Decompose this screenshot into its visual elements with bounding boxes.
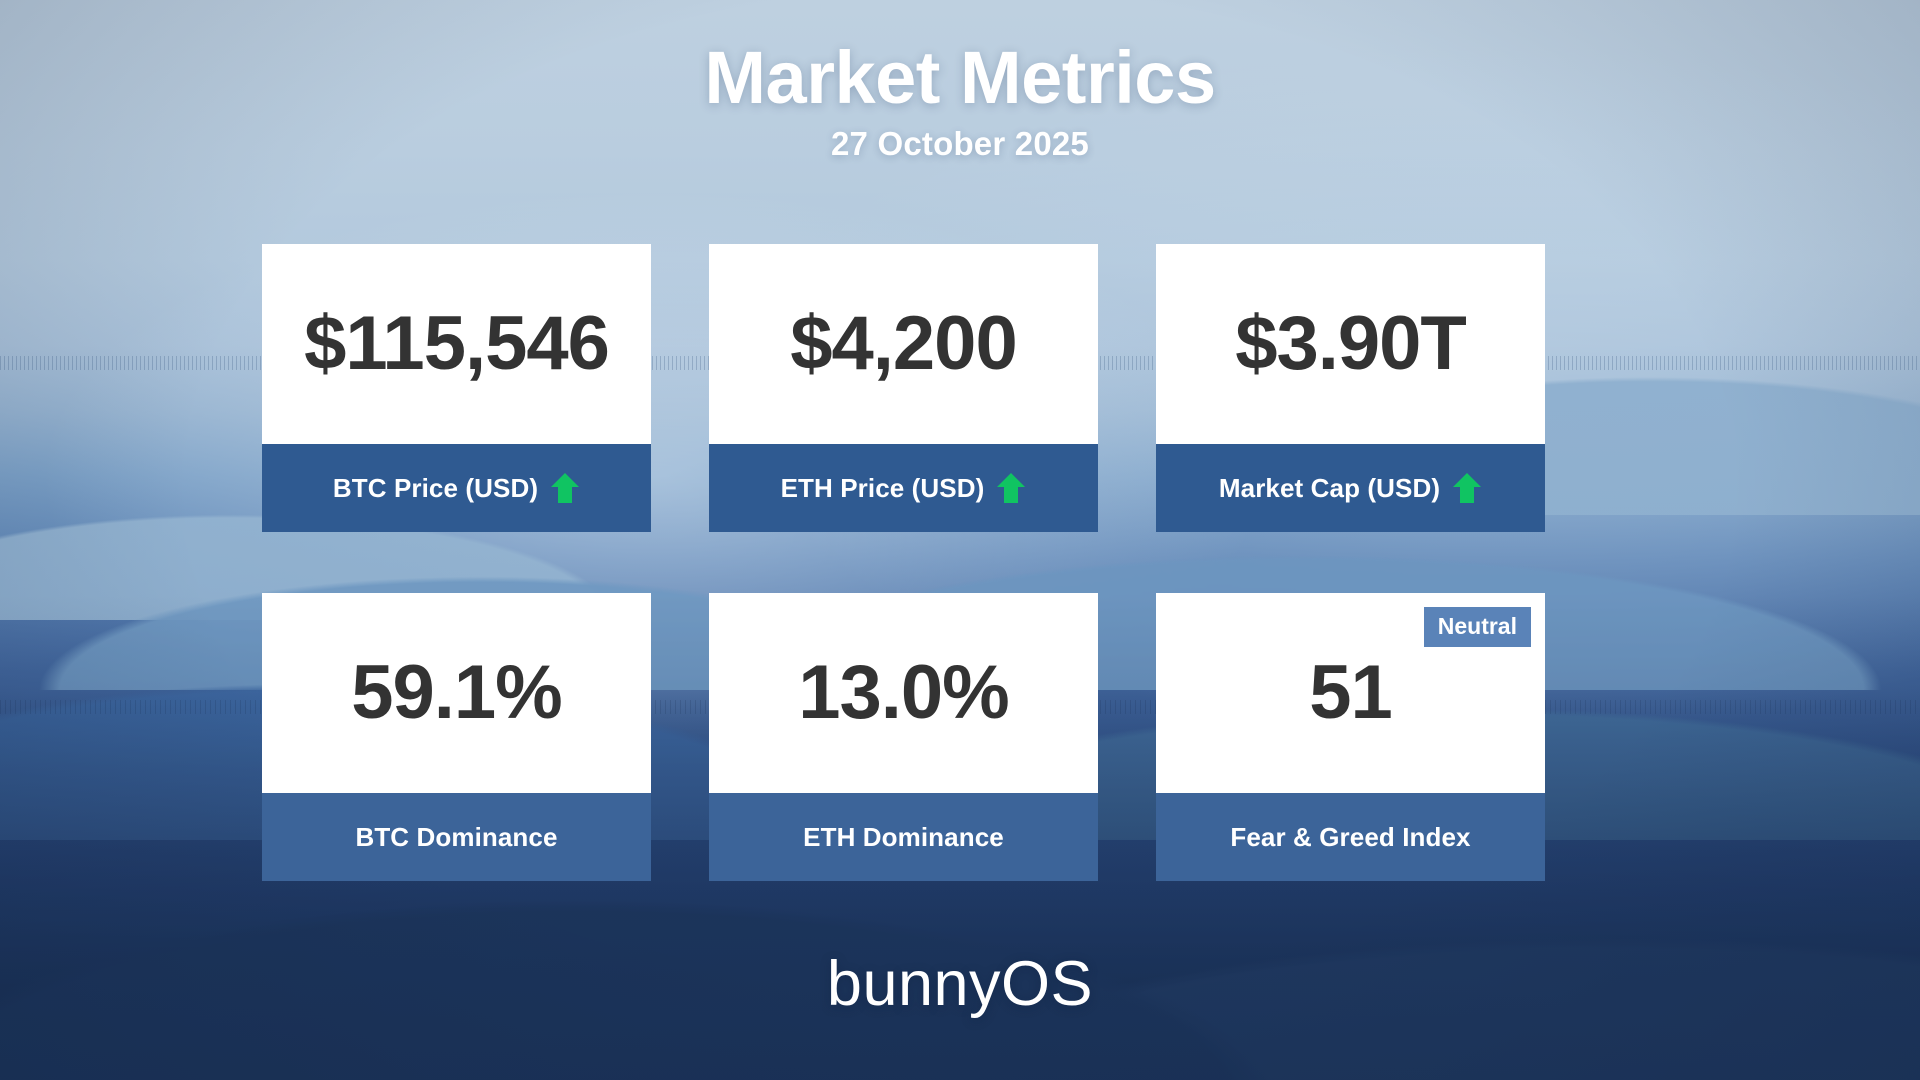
metric-value: 51 — [1309, 655, 1392, 731]
arrow-up-icon — [1452, 471, 1482, 505]
metric-label: Fear & Greed Index — [1230, 822, 1470, 853]
metric-value: $3.90T — [1235, 306, 1466, 382]
metric-footer: ETH Dominance — [709, 793, 1098, 881]
metric-value: $115,546 — [304, 306, 609, 382]
metric-footer: ETH Price (USD) — [709, 444, 1098, 532]
metric-footer: BTC Dominance — [262, 793, 651, 881]
metric-value-container: 13.0% — [709, 593, 1098, 793]
metric-footer: BTC Price (USD) — [262, 444, 651, 532]
metric-label: BTC Dominance — [355, 822, 557, 853]
metric-value-container: $3.90T — [1156, 244, 1545, 444]
metric-value-container: $115,546 — [262, 244, 651, 444]
metric-card-eth-dominance: 13.0% ETH Dominance — [709, 593, 1098, 881]
market-metrics-poster: Market Metrics 27 October 2025 $115,546 … — [0, 0, 1920, 1080]
metric-label: ETH Dominance — [803, 822, 1004, 853]
arrow-up-icon — [550, 471, 580, 505]
metric-label: Market Cap (USD) — [1219, 473, 1440, 504]
status-badge: Neutral — [1424, 607, 1531, 647]
metric-value: $4,200 — [790, 306, 1016, 382]
metric-label: ETH Price (USD) — [781, 473, 985, 504]
metric-footer: Fear & Greed Index — [1156, 793, 1545, 881]
metric-label: BTC Price (USD) — [333, 473, 538, 504]
metric-card-eth-price: $4,200 ETH Price (USD) — [709, 244, 1098, 532]
metric-value-container: $4,200 — [709, 244, 1098, 444]
page-date: 27 October 2025 — [0, 125, 1920, 163]
metric-value-container: Neutral 51 — [1156, 593, 1545, 793]
page-title: Market Metrics — [0, 40, 1920, 117]
metric-card-market-cap: $3.90T Market Cap (USD) — [1156, 244, 1545, 532]
brand-wordmark: bunnyOS — [0, 948, 1920, 1020]
metric-card-fear-greed: Neutral 51 Fear & Greed Index — [1156, 593, 1545, 881]
poster-header: Market Metrics 27 October 2025 — [0, 0, 1920, 163]
metric-card-btc-dominance: 59.1% BTC Dominance — [262, 593, 651, 881]
metric-value-container: 59.1% — [262, 593, 651, 793]
arrow-up-icon — [996, 471, 1026, 505]
metric-card-btc-price: $115,546 BTC Price (USD) — [262, 244, 651, 532]
metric-footer: Market Cap (USD) — [1156, 444, 1545, 532]
metric-value: 13.0% — [798, 655, 1009, 731]
metrics-grid: $115,546 BTC Price (USD) $4,200 ETH Pric… — [262, 244, 1545, 881]
metric-value: 59.1% — [351, 655, 562, 731]
